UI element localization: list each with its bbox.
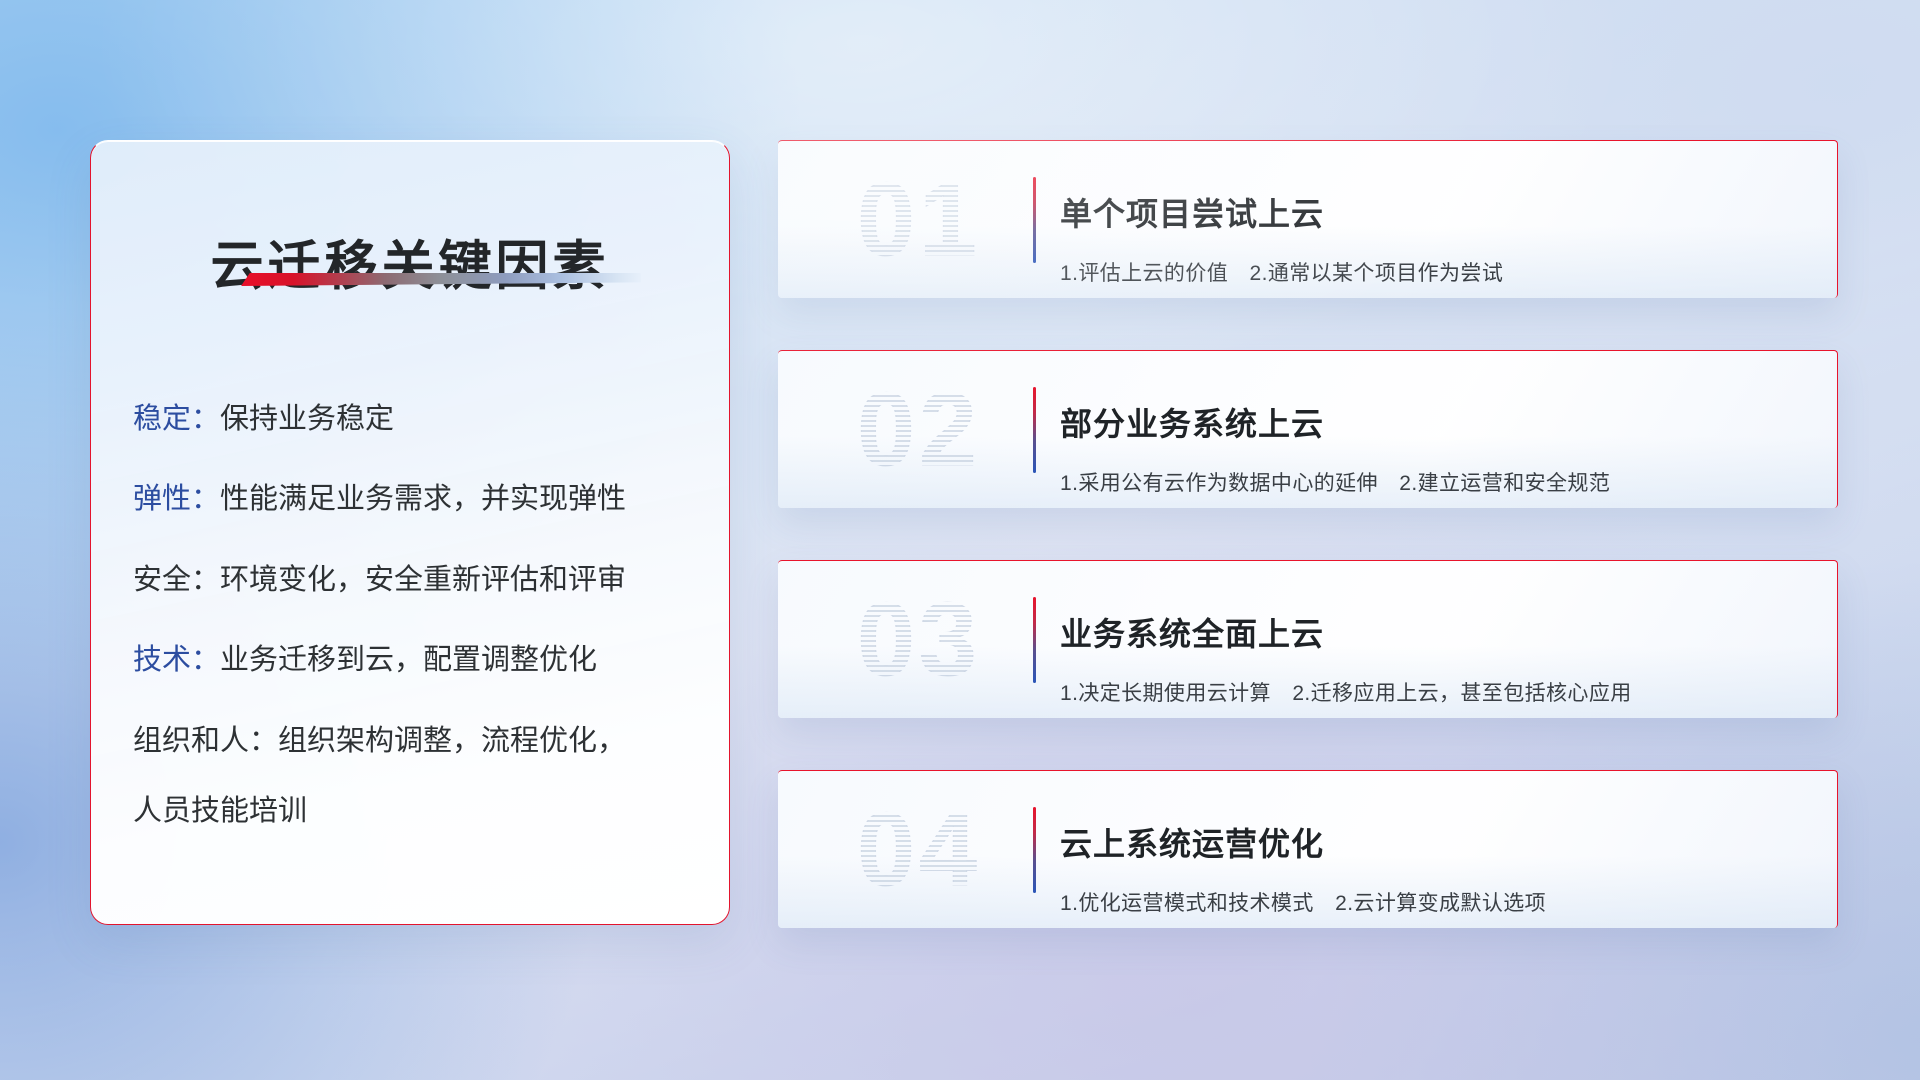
list-item-text: 业务迁移到云，配置调整优化 xyxy=(220,644,597,676)
stage-description: 1.评估上云的价值 2.通常以某个项目作为尝试 xyxy=(1060,260,1811,287)
stage-card[interactable]: 01 单个项目尝试上云 1.评估上云的价值 2.通常以某个项目作为尝试 xyxy=(778,140,1838,298)
list-item-label: 技术： xyxy=(133,644,220,676)
stage-body: 业务系统全面上云 1.决定长期使用云计算 2.迁移应用上云，甚至包括核心应用 xyxy=(1060,587,1811,718)
list-item: 组织和人：组织架构调整，流程优化， 人员技能培训 xyxy=(133,722,703,832)
stage-body: 部分业务系统上云 1.采用公有云作为数据中心的延伸 2.建立运营和安全规范 xyxy=(1060,377,1811,508)
list-item-label: 弹性： xyxy=(133,483,220,515)
page-title: 云迁移关键因素 xyxy=(91,224,729,300)
stage-divider-bar xyxy=(1033,387,1036,473)
stage-title: 业务系统全面上云 xyxy=(1060,614,1811,654)
stage-body: 云上系统运营优化 1.优化运营模式和技术模式 2.云计算变成默认选项 xyxy=(1060,797,1811,928)
stage-card[interactable]: 02 部分业务系统上云 1.采用公有云作为数据中心的延伸 2.建立运营和安全规范 xyxy=(778,350,1838,508)
list-item: 技术：业务迁移到云，配置调整优化 xyxy=(133,641,703,680)
list-item-text: 性能满足业务需求，并实现弹性 xyxy=(220,483,626,515)
stage-title: 云上系统运营优化 xyxy=(1060,824,1811,864)
list-item-text: 组织架构调整，流程优化， xyxy=(278,725,626,757)
stage-title: 部分业务系统上云 xyxy=(1060,404,1811,444)
stage-card[interactable]: 04 云上系统运营优化 1.优化运营模式和技术模式 2.云计算变成默认选项 xyxy=(778,770,1838,928)
list-item-label: 组织和人： xyxy=(133,725,278,757)
list-item-label: 稳定： xyxy=(133,403,220,435)
stage-title: 单个项目尝试上云 xyxy=(1060,194,1811,234)
stage-number-04: 04 xyxy=(804,785,1034,915)
stage-number-02: 02 xyxy=(804,365,1034,495)
stage-divider-bar xyxy=(1033,807,1036,893)
stage-number-01: 01 xyxy=(804,155,1034,285)
list-item-label: 安全： xyxy=(133,564,220,596)
stage-description: 1.决定长期使用云计算 2.迁移应用上云，甚至包括核心应用 xyxy=(1060,680,1811,707)
stage-divider-bar xyxy=(1033,597,1036,683)
key-factors-card: 云迁移关键因素 稳定：保持业务稳定 弹性：性能满足业务需求，并实现弹性 安全：环… xyxy=(90,140,730,925)
stage-body: 单个项目尝试上云 1.评估上云的价值 2.通常以某个项目作为尝试 xyxy=(1060,167,1811,298)
stage-number-03: 03 xyxy=(804,575,1034,705)
list-item-text: 环境变化，安全重新评估和评审 xyxy=(220,564,626,596)
list-item: 安全：环境变化，安全重新评估和评审 xyxy=(133,561,703,600)
list-item: 弹性：性能满足业务需求，并实现弹性 xyxy=(133,480,703,519)
stage-divider-bar xyxy=(1033,177,1036,263)
migration-stage-list: 01 单个项目尝试上云 1.评估上云的价值 2.通常以某个项目作为尝试 02 部… xyxy=(778,140,1838,980)
list-item-text: 保持业务稳定 xyxy=(220,403,394,435)
stage-description: 1.采用公有云作为数据中心的延伸 2.建立运营和安全规范 xyxy=(1060,470,1811,497)
list-item: 稳定：保持业务稳定 xyxy=(133,400,703,439)
key-factors-list: 稳定：保持业务稳定 弹性：性能满足业务需求，并实现弹性 安全：环境变化，安全重新… xyxy=(133,371,703,832)
stage-description: 1.优化运营模式和技术模式 2.云计算变成默认选项 xyxy=(1060,890,1811,917)
stage-card[interactable]: 03 业务系统全面上云 1.决定长期使用云计算 2.迁移应用上云，甚至包括核心应… xyxy=(778,560,1838,718)
slide-canvas: 云迁移关键因素 稳定：保持业务稳定 弹性：性能满足业务需求，并实现弹性 安全：环… xyxy=(0,0,1920,1080)
list-item-text-continued: 人员技能培训 xyxy=(133,792,703,831)
